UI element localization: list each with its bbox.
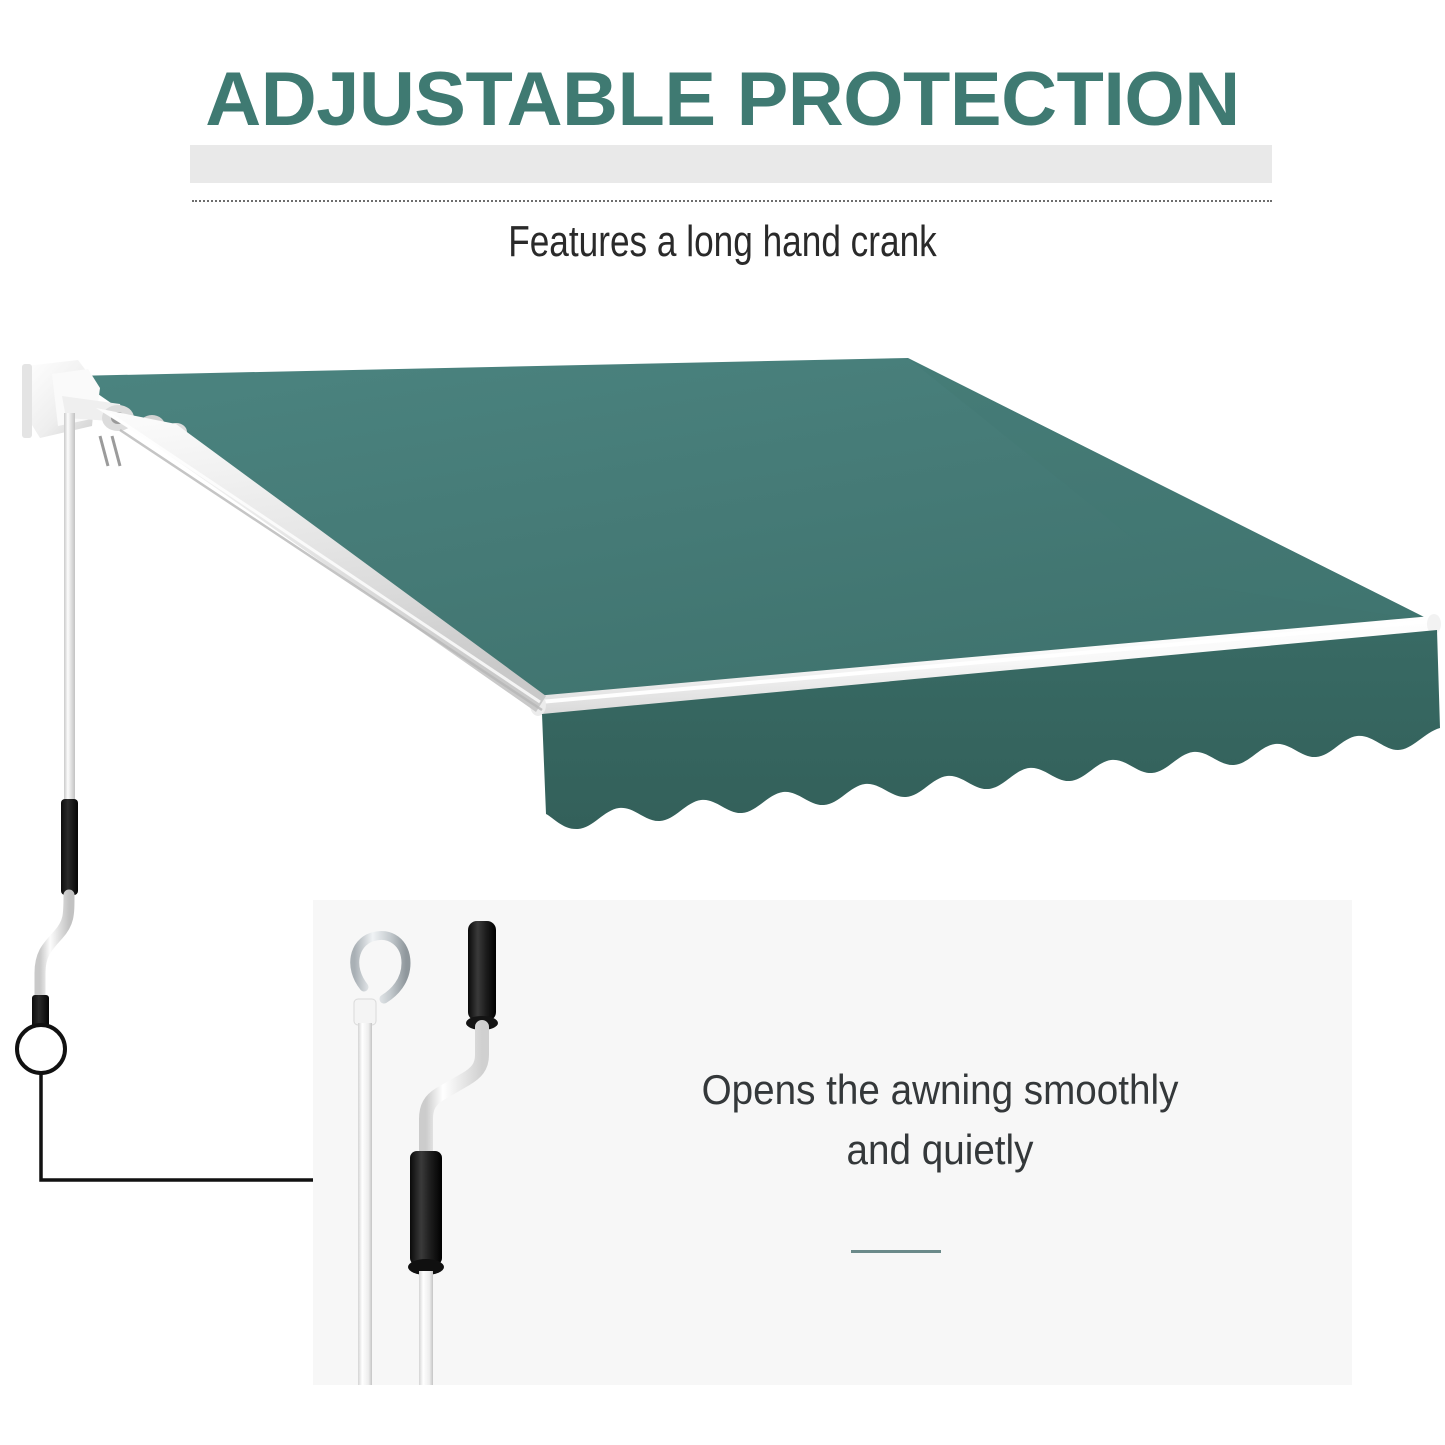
callout-leader-line — [0, 880, 360, 1210]
panel-underline-rule — [851, 1250, 941, 1253]
page-title: ADJUSTABLE PROTECTION — [0, 62, 1445, 138]
crank-upper-shaft — [64, 413, 75, 801]
crank-top-grip — [468, 921, 496, 1021]
panel-caption-line1: Opens the awning smoothly — [664, 1060, 1216, 1120]
page-subtitle: Features a long hand crank — [145, 212, 1301, 271]
panel-caption-line2: and quietly — [664, 1120, 1216, 1180]
panel-caption: Opens the awning smoothly and quietly — [664, 1060, 1216, 1179]
awning-product-image — [0, 330, 1445, 870]
crank-lower-grip-sleeve — [410, 1151, 442, 1265]
marketing-slide: ADJUSTABLE PROTECTION Features a long ha… — [0, 0, 1445, 1445]
hand-crank-rod — [0, 395, 130, 1355]
crank-arm — [426, 1027, 482, 1153]
hook-collar — [354, 999, 376, 1025]
hook-rod-shaft — [358, 1023, 372, 1385]
crank-handle — [408, 921, 498, 1385]
metal-hook-icon — [355, 935, 406, 999]
crank-lower-shaft — [419, 1271, 433, 1385]
header-block: ADJUSTABLE PROTECTION Features a long ha… — [0, 0, 1445, 290]
hand-crank-detail-image — [340, 915, 670, 1385]
title-highlight-band — [190, 145, 1272, 183]
hook-rod — [354, 935, 406, 1385]
awning-illustration — [0, 330, 1445, 870]
dotted-divider — [192, 200, 1272, 202]
